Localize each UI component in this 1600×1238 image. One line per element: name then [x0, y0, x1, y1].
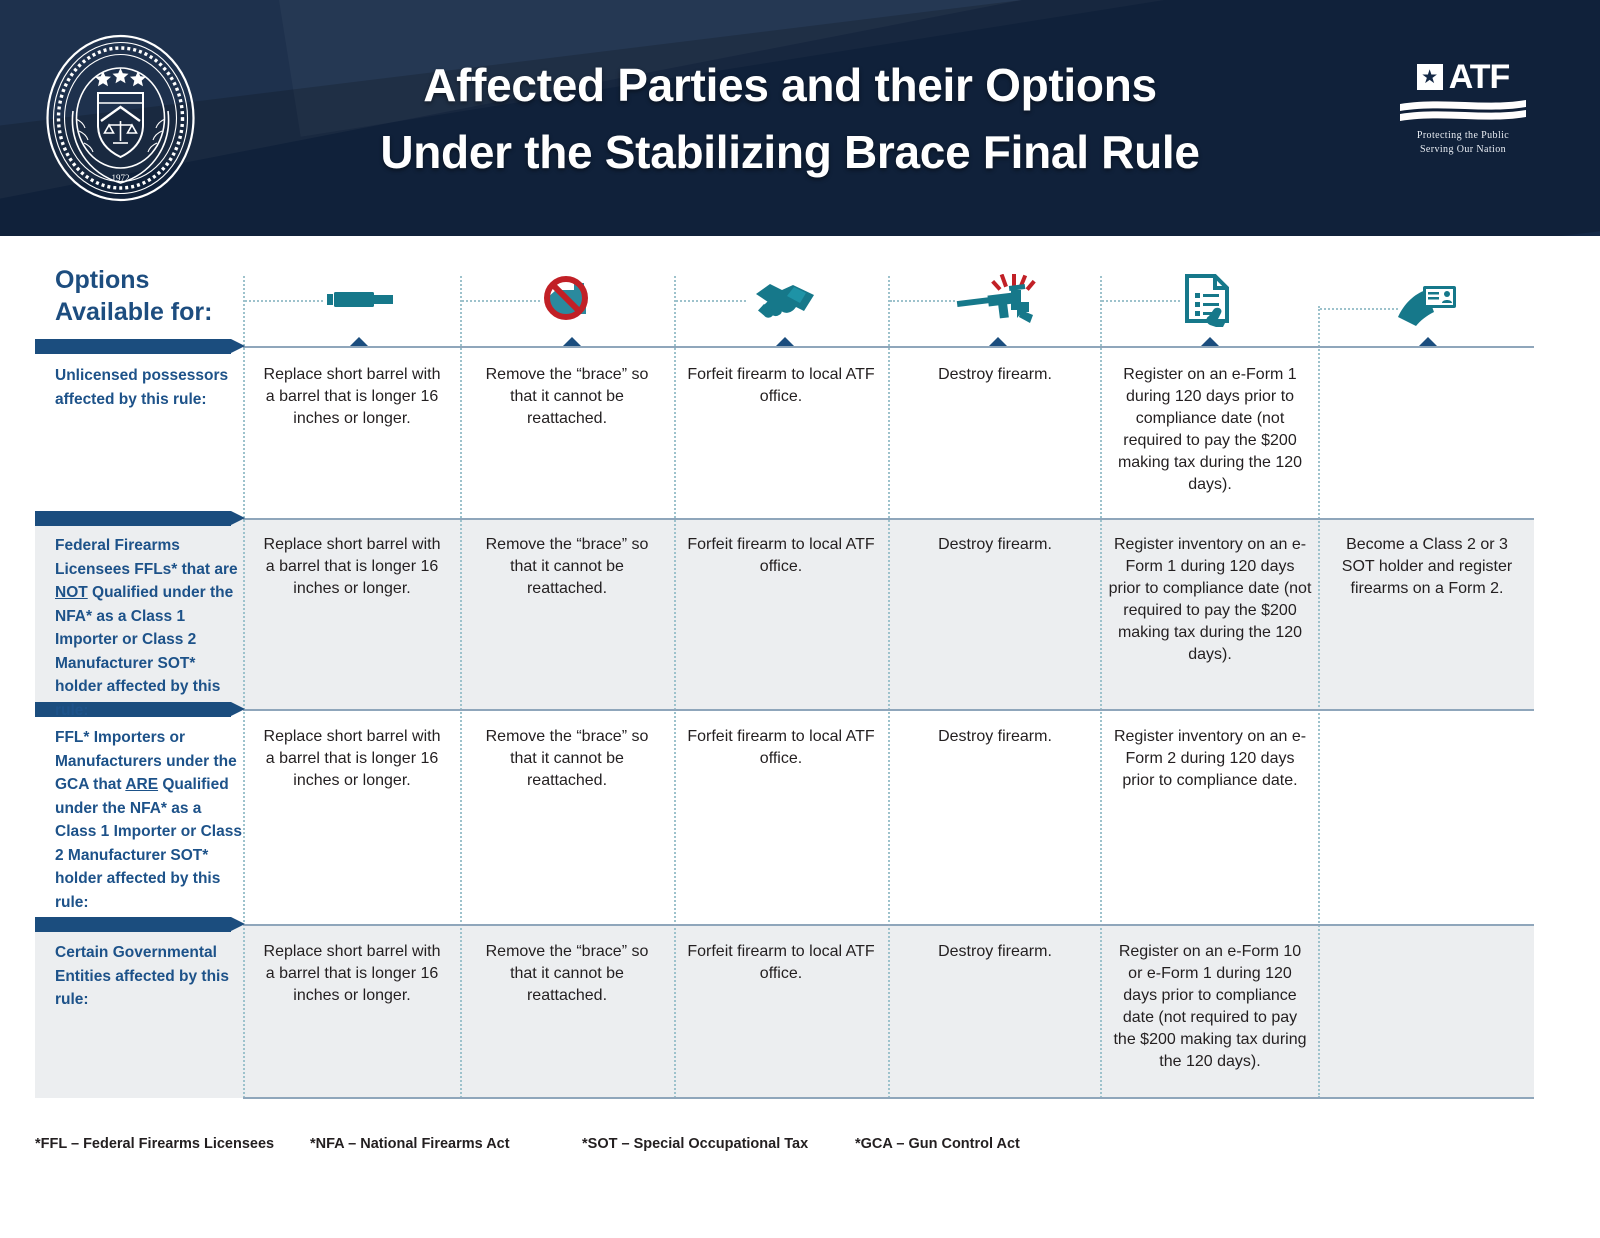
cell-r2-forfeit: Forfeit firearm to local ATF office.: [686, 534, 876, 578]
atf-wordmark-logo: ★ ATF Protecting the Public Serving Our …: [1398, 60, 1528, 156]
cell-r3-forfeit: Forfeit firearm to local ATF office.: [686, 726, 876, 770]
footnote-gca: *GCA – Gun Control Act: [855, 1136, 1020, 1152]
row-arrow-4: [35, 917, 245, 932]
row-rule-4: [243, 924, 1534, 926]
cell-r4-replace-barrel: Replace short barrel with a barrel that …: [258, 941, 446, 1007]
column-separator-3: [674, 276, 676, 1098]
options-available-label: Options Available for:: [55, 264, 212, 328]
page-title-line1: Affected Parties and their Options: [423, 59, 1157, 111]
row-arrow-1: [35, 339, 245, 354]
icon-lead-line-2: [462, 300, 540, 302]
cell-r1-register: Register on an e-Form 1 during 120 days …: [1110, 364, 1310, 495]
page-title-line2: Under the Stabilizing Brace Final Rule: [250, 119, 1330, 186]
atf-wordmark-text: ATF: [1449, 60, 1510, 94]
row-rule-2: [243, 518, 1534, 520]
atf-tagline-line2: Serving Our Nation: [1398, 143, 1528, 157]
icon-lead-line-4: [890, 300, 955, 302]
cell-r4-destroy: Destroy firearm.: [900, 941, 1090, 963]
column-separator-6: [1318, 306, 1320, 1098]
icon-lead-line-6: [1320, 308, 1398, 310]
column-marker-4: [989, 337, 1007, 346]
row-label-underline-not: NOT: [55, 584, 88, 601]
cell-r2-replace-barrel: Replace short barrel with a barrel that …: [258, 534, 446, 600]
row-label-text-2: Federal Firearms Licensees FFLs* that ar…: [55, 537, 238, 578]
cell-r2-destroy: Destroy firearm.: [900, 534, 1090, 556]
icon-lead-line-1: [245, 300, 323, 302]
options-available-line1: Options: [55, 264, 212, 296]
row-label-unlicensed-possessors: Unlicensed possessors affected by this r…: [55, 364, 245, 411]
cell-r1-remove-brace: Remove the “brace” so that it cannot be …: [472, 364, 662, 430]
footnote-nfa: *NFA – National Firearms Act: [310, 1136, 510, 1152]
table-bottom-rule: [243, 1097, 1534, 1099]
register-form-icon: [1172, 272, 1246, 328]
cell-r1-replace-barrel: Replace short barrel with a barrel that …: [258, 364, 446, 430]
cell-r3-remove-brace: Remove the “brace” so that it cannot be …: [472, 726, 662, 792]
cell-r1-destroy: Destroy firearm.: [900, 364, 1090, 386]
options-table: Options Available for:: [0, 236, 1600, 1238]
cell-r2-remove-brace: Remove the “brace” so that it cannot be …: [472, 534, 662, 600]
atf-tagline-line1: Protecting the Public: [1398, 129, 1528, 143]
column-separator-4: [888, 276, 890, 1098]
license-card-icon: [1390, 278, 1464, 334]
infographic-page: 1972 Affected Parties and their Options …: [0, 0, 1600, 1238]
no-brace-icon: [535, 272, 609, 328]
cell-r1-forfeit: Forfeit firearm to local ATF office.: [686, 364, 876, 408]
handshake-icon: [748, 272, 822, 328]
cell-r4-remove-brace: Remove the “brace” so that it cannot be …: [472, 941, 662, 1007]
row-arrow-2: [35, 511, 245, 526]
options-available-line2: Available for:: [55, 296, 212, 328]
destroy-firearm-icon: [955, 272, 1041, 328]
column-marker-5: [1201, 337, 1219, 346]
row-label-ffl-are-qualified: FFL* Importers or Manufacturers under th…: [55, 726, 245, 914]
column-marker-2: [563, 337, 581, 346]
cell-r3-destroy: Destroy firearm.: [900, 726, 1090, 748]
column-marker-1: [350, 337, 368, 346]
cell-r2-register: Register inventory on an e-Form 1 during…: [1108, 534, 1312, 665]
atf-seal-icon: 1972: [43, 33, 198, 203]
column-marker-3: [776, 337, 794, 346]
atf-stripes-icon: [1398, 98, 1528, 124]
column-marker-6: [1419, 337, 1437, 346]
row-rule-3: [243, 709, 1534, 711]
cell-r3-register: Register inventory on an e-Form 2 during…: [1110, 726, 1310, 792]
column-separator-2: [460, 276, 462, 1098]
page-title: Affected Parties and their Options Under…: [250, 52, 1330, 185]
barrel-icon: [323, 272, 395, 328]
cell-r4-register: Register on an e-Form 10 or e-Form 1 dur…: [1110, 941, 1310, 1072]
page-header: 1972 Affected Parties and their Options …: [0, 0, 1600, 236]
star-icon: ★: [1417, 64, 1443, 90]
row-label-underline-are: ARE: [125, 776, 158, 793]
cell-r2-sot: Become a Class 2 or 3 SOT holder and reg…: [1328, 534, 1526, 600]
footnote-sot: *SOT – Special Occupational Tax: [582, 1136, 808, 1152]
row-label-ffl-not-qualified: Federal Firearms Licensees FFLs* that ar…: [55, 534, 245, 722]
cell-r3-replace-barrel: Replace short barrel with a barrel that …: [258, 726, 446, 792]
footnote-ffl: *FFL – Federal Firearms Licensees: [35, 1136, 274, 1152]
column-separator-5: [1100, 276, 1102, 1098]
row-label-governmental-entities: Certain Governmental Entities affected b…: [55, 941, 245, 1012]
header-rule: [243, 346, 1534, 348]
atf-tagline: Protecting the Public Serving Our Nation: [1398, 129, 1528, 156]
svg-text:1972: 1972: [112, 173, 130, 183]
row-label-text-2b: Qualified under the NFA* as a Class 1 Im…: [55, 584, 233, 719]
row-label-text-3b: Qualified under the NFA* as a Class 1 Im…: [55, 776, 242, 911]
icon-lead-line-3: [676, 300, 746, 302]
cell-r4-forfeit: Forfeit firearm to local ATF office.: [686, 941, 876, 985]
icon-lead-line-5: [1102, 300, 1180, 302]
